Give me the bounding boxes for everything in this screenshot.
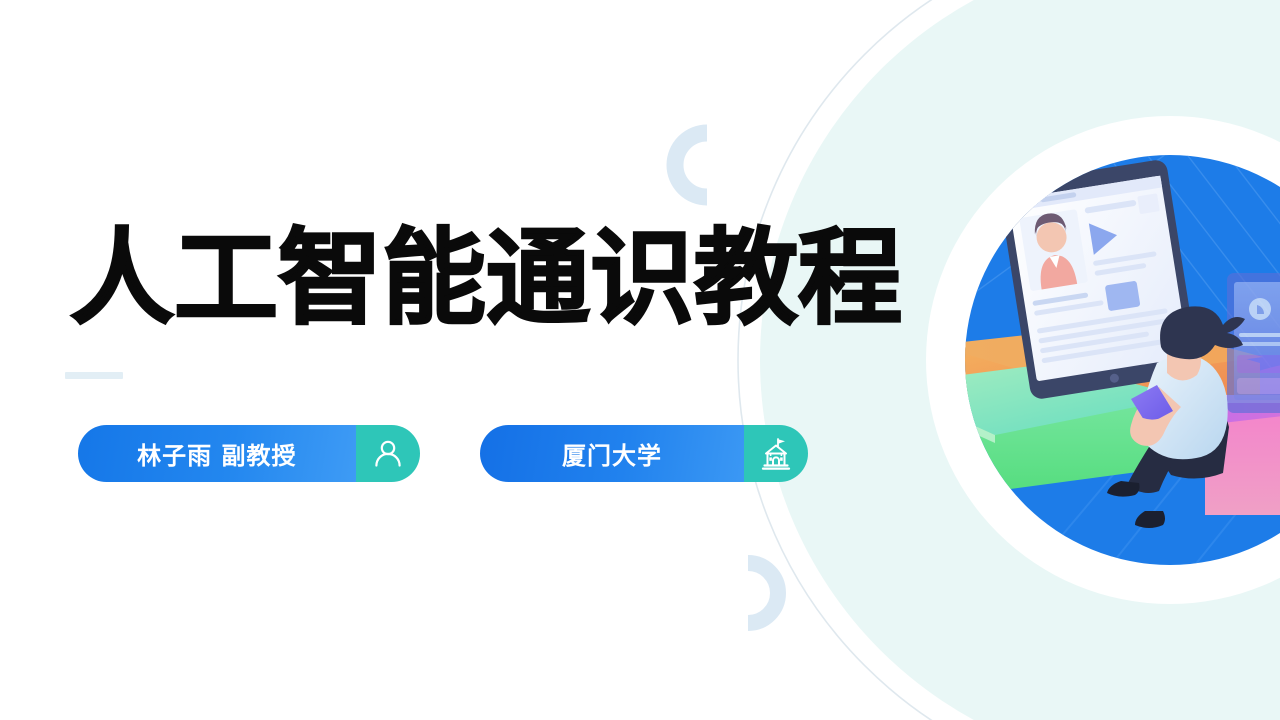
page-title: 人工智能通识教程 [70, 222, 902, 334]
online-learning-illustration [905, 95, 1280, 625]
badge-school-label: 厦门大学 [480, 425, 744, 482]
badge-school[interactable]: 厦门大学 [480, 425, 808, 482]
arc-ring-left-icon [675, 133, 707, 197]
arc-ring-right-icon [748, 563, 778, 623]
person-icon [356, 425, 420, 482]
badge-teacher[interactable]: 林子雨 副教授 [78, 425, 420, 482]
school-building-icon [744, 425, 808, 482]
badge-teacher-label: 林子雨 副教授 [78, 425, 356, 482]
title-underline-bar [65, 372, 123, 379]
slide-root: 人工智能通识教程 林子雨 副教授 厦门大学 [0, 0, 1280, 720]
